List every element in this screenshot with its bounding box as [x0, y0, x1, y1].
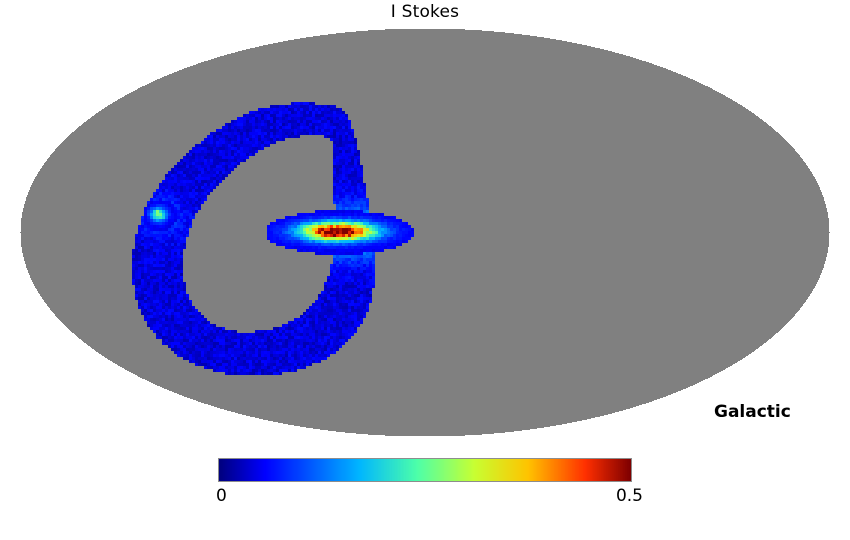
colorbar-gradient [218, 458, 632, 482]
colorbar[interactable] [218, 458, 632, 482]
colorbar-min-tick-label: 0 [216, 486, 227, 506]
coordinate-system-label: Galactic [714, 402, 791, 422]
healpy-mollweide-figure: I Stokes Galactic 0 0.5 [0, 0, 850, 540]
colorbar-max-tick-label: 0.5 [563, 486, 643, 506]
